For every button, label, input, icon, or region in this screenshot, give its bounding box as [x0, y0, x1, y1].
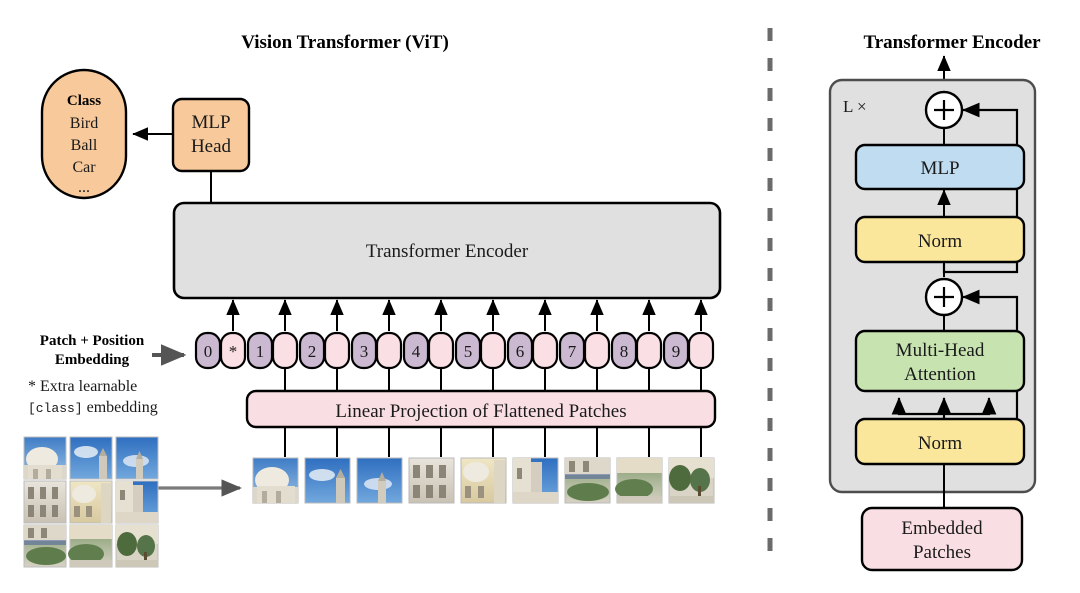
mlp-head-line1: MLP [191, 112, 230, 133]
multi-head-attention-block: Multi-Head Attention [856, 331, 1024, 391]
grid-tile-1-0 [24, 481, 66, 523]
linear-projection-box: Linear Projection of Flattened Patches [247, 391, 715, 427]
repeat-count-label: L × [843, 97, 867, 116]
class-item-0: Bird [70, 115, 98, 132]
footnote-line2-tail: embedding [83, 399, 158, 416]
residual-add-top [926, 92, 962, 128]
patch-strip-tile-6 [565, 458, 610, 503]
mlp-block-label: MLP [920, 158, 959, 179]
mlp-block: MLP [856, 145, 1024, 189]
grid-tile-0-2 [116, 437, 158, 479]
grid-tile-0-1 [70, 437, 112, 479]
patch-strip-tile-2 [357, 458, 402, 503]
patch-strip-tile-8 [669, 458, 714, 503]
norm-bottom-block: Norm [856, 419, 1024, 464]
norm-top-block: Norm [856, 217, 1024, 262]
transformer-encoder-box: Transformer Encoder [174, 203, 720, 298]
token-4-index: 4 [412, 342, 421, 361]
source-image-patch-grid [24, 437, 158, 567]
mlp-head-line2: Head [191, 136, 232, 157]
token-7-index: 7 [568, 342, 577, 361]
flattened-patch-strip [253, 458, 714, 503]
attention-line1: Multi-Head [896, 340, 985, 361]
embedded-patches-block: Embedded Patches [862, 508, 1022, 570]
embedding-label-line2: Embedding [55, 352, 130, 368]
token-1-index: 1 [256, 342, 265, 361]
patch-strip-tile-5 [513, 458, 558, 503]
token-0-index: 0 [204, 342, 213, 361]
patch-strip-tile-4 [461, 458, 506, 503]
attention-line2: Attention [904, 364, 976, 385]
token-8-index: 8 [620, 342, 629, 361]
footnote-mono-token: [class] [28, 401, 83, 416]
norm-top-label: Norm [918, 231, 963, 252]
grid-tile-1-1 [70, 481, 112, 523]
mlp-head-box: MLP Head [173, 99, 249, 171]
token-5-index: 5 [464, 342, 473, 361]
embedded-patches-line1: Embedded [901, 518, 983, 539]
patch-strip-tile-0 [253, 458, 298, 503]
token-6-index: 6 [516, 342, 525, 361]
grid-tile-2-0 [24, 525, 66, 567]
patch-strip-tile-3 [409, 458, 454, 503]
grid-tile-1-2 [116, 481, 158, 523]
grid-tile-0-0 [24, 437, 66, 479]
svg-text:[class] embedding: [class] embedding [28, 399, 158, 416]
class-box-heading: Class [67, 93, 101, 109]
token-3-index: 3 [360, 342, 369, 361]
footnote-line1: * Extra learnable [28, 378, 137, 395]
left-panel-title: Vision Transformer (ViT) [241, 32, 449, 53]
norm-bottom-label: Norm [918, 433, 963, 454]
vit-architecture-diagram: Vision Transformer (ViT) Transformer Enc… [0, 0, 1080, 593]
class-item-3: ... [78, 179, 90, 196]
linear-projection-label: Linear Projection of Flattened Patches [335, 401, 626, 422]
embedding-label-line1: Patch + Position [40, 333, 145, 349]
grid-tile-2-1 [68, 525, 112, 567]
residual-add-bottom [926, 279, 962, 315]
patch-strip-tile-1 [305, 458, 350, 503]
token-9-index: 9 [672, 342, 681, 361]
transformer-encoder-label: Transformer Encoder [366, 241, 529, 262]
grid-tile-2-2 [116, 525, 158, 567]
right-panel-title: Transformer Encoder [863, 32, 1041, 53]
token-0-star: * [229, 342, 238, 361]
class-item-1: Ball [71, 137, 98, 154]
embedded-patches-line2: Patches [913, 542, 971, 563]
class-output-box: Class Bird Ball Car ... [42, 70, 126, 198]
class-item-2: Car [72, 159, 96, 176]
token-2-index: 2 [308, 342, 317, 361]
patch-strip-tile-7 [615, 458, 662, 503]
